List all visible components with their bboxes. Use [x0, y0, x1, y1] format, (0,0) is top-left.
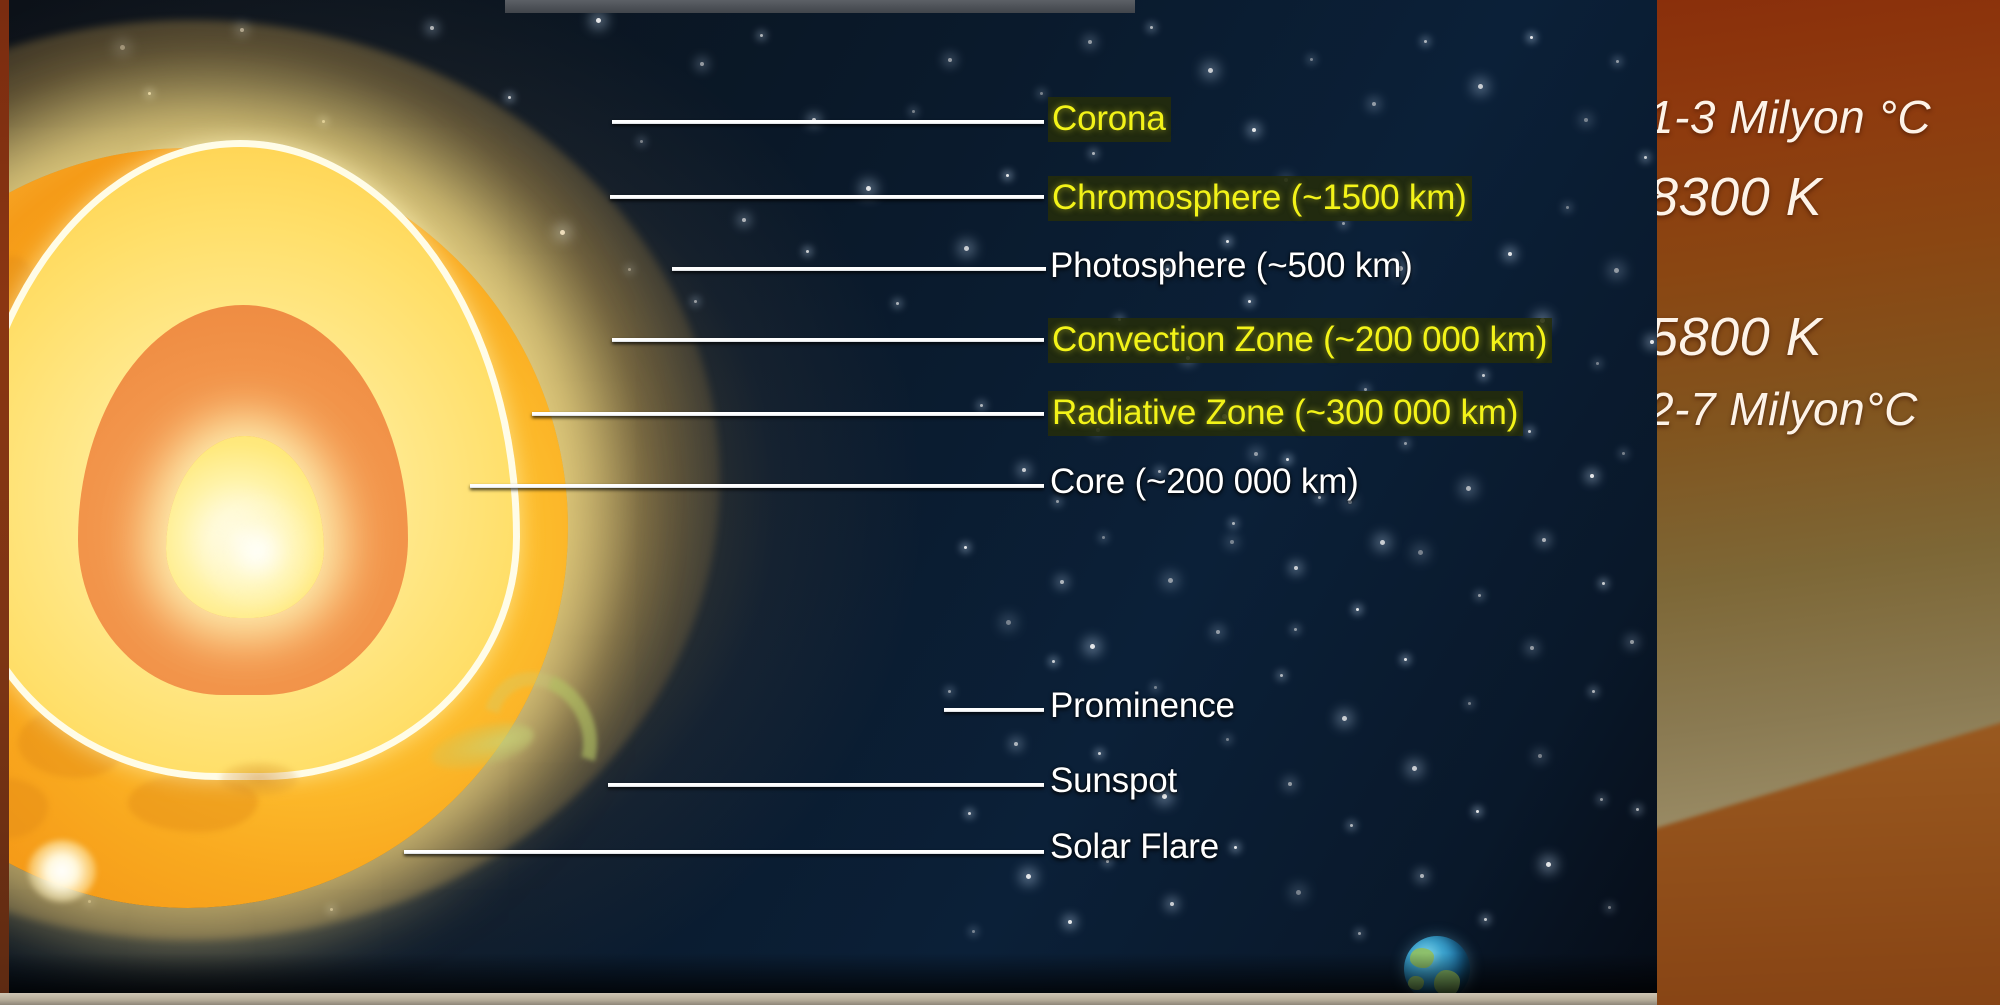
star: [1286, 458, 1289, 461]
star: [1420, 874, 1424, 878]
star: [972, 930, 975, 933]
temp-chromosphere-temp: 8300 K: [1657, 166, 1822, 228]
star: [1478, 594, 1481, 597]
star: [1102, 536, 1105, 539]
leader-line-core: [470, 484, 1044, 488]
star: [806, 250, 809, 253]
sun-diagram-slide: CoronaChromosphere (~1500 km)Photosphere…: [0, 0, 1657, 1005]
star: [1170, 902, 1174, 906]
star: [1006, 174, 1009, 177]
leader-line-convection: [612, 338, 1044, 342]
star: [742, 218, 746, 222]
star: [1482, 374, 1485, 377]
star: [1294, 628, 1297, 631]
star: [1592, 690, 1595, 693]
star: [948, 690, 951, 693]
label-photosphere: Photosphere (~500 km): [1050, 247, 1413, 284]
temp-photosphere-temp: 5800 K: [1657, 306, 1822, 368]
star: [1590, 474, 1594, 478]
star: [1644, 156, 1647, 159]
star: [1294, 566, 1298, 570]
star: [1296, 890, 1301, 895]
star: [1530, 646, 1534, 650]
star: [1372, 102, 1376, 106]
star: [1476, 810, 1479, 813]
star: [1088, 40, 1092, 44]
star: [912, 110, 915, 113]
star: [1614, 268, 1619, 273]
left-edge-strip: [0, 0, 9, 1005]
leader-line-chromosphere: [610, 195, 1044, 199]
star: [1026, 874, 1031, 879]
sunspot-blotch: [220, 762, 298, 796]
sun-illustration: [0, 20, 720, 940]
star: [1566, 206, 1569, 209]
star: [1006, 620, 1011, 625]
star: [980, 404, 983, 407]
slide-canvas: CoronaChromosphere (~1500 km)Photosphere…: [0, 0, 2000, 1005]
star: [968, 812, 971, 815]
star: [1356, 608, 1359, 611]
star: [1226, 240, 1229, 243]
temp-corona-temp: 1-3 Milyon °C: [1657, 90, 1931, 144]
star: [1092, 152, 1095, 155]
star: [1310, 58, 1313, 61]
solar-flare-spot: [28, 840, 96, 902]
label-corona: Corona: [1048, 97, 1171, 142]
star: [1342, 716, 1347, 721]
star: [1168, 578, 1173, 583]
star: [1226, 738, 1229, 741]
star: [1650, 340, 1654, 344]
star: [1630, 640, 1634, 644]
star: [1060, 580, 1064, 584]
star: [1052, 660, 1055, 663]
star: [1090, 644, 1095, 649]
label-sunspot: Sunspot: [1050, 762, 1177, 799]
leader-line-solar-flare: [404, 850, 1044, 854]
star: [1602, 582, 1605, 585]
star: [1546, 862, 1551, 867]
star: [866, 186, 871, 191]
leader-line-photosphere: [672, 267, 1046, 271]
star: [1468, 702, 1471, 705]
bottom-vignette: [0, 953, 1657, 993]
star: [1542, 538, 1546, 542]
star: [1622, 452, 1625, 455]
star: [1528, 430, 1531, 433]
star: [1234, 846, 1237, 849]
star: [1466, 486, 1471, 491]
star: [1596, 362, 1599, 365]
star: [1150, 26, 1153, 29]
star: [1358, 932, 1361, 935]
leader-line-prominence: [944, 708, 1044, 712]
star: [1424, 40, 1427, 43]
star: [1530, 36, 1533, 39]
star: [1350, 824, 1353, 827]
star: [1508, 252, 1512, 256]
star: [1252, 128, 1256, 132]
leader-line-radiative: [532, 412, 1044, 416]
temp-convection-temp: 2-7 Milyon°C: [1657, 382, 1918, 436]
label-convection: Convection Zone (~200 000 km): [1048, 318, 1552, 363]
sun-cutaway: [0, 140, 520, 780]
leader-line-corona: [612, 120, 1044, 124]
star: [1014, 742, 1018, 746]
star: [1636, 808, 1639, 811]
star: [1098, 752, 1101, 755]
star: [1342, 222, 1345, 225]
star: [1254, 452, 1258, 456]
star: [1412, 766, 1417, 771]
star: [1616, 60, 1619, 63]
label-solar-flare: Solar Flare: [1050, 828, 1219, 865]
star: [1288, 782, 1292, 786]
star: [964, 546, 967, 549]
label-core: Core (~200 000 km): [1050, 463, 1359, 500]
star: [760, 34, 763, 37]
leader-line-sunspot: [608, 783, 1044, 787]
star: [964, 246, 969, 251]
star: [1230, 540, 1234, 544]
star: [1600, 798, 1603, 801]
star: [1040, 92, 1043, 95]
star: [1068, 920, 1072, 924]
star: [948, 58, 952, 62]
label-chromosphere: Chromosphere (~1500 km): [1048, 176, 1472, 221]
star: [1608, 906, 1611, 909]
star: [1584, 118, 1588, 122]
star: [1022, 468, 1026, 472]
star: [1538, 754, 1542, 758]
star: [1216, 630, 1220, 634]
star: [1404, 442, 1407, 445]
star: [1484, 918, 1487, 921]
star: [1208, 68, 1213, 73]
star: [1248, 300, 1251, 303]
temperature-panel: 1-3 Milyon °C8300 K5800 K2-7 Milyon°C: [1657, 0, 2000, 1005]
star: [1232, 522, 1235, 525]
core-glow: [198, 492, 318, 612]
star: [1478, 84, 1483, 89]
label-prominence: Prominence: [1050, 687, 1235, 724]
top-grey-bar: [505, 0, 1135, 13]
star: [1418, 550, 1423, 555]
star: [896, 302, 899, 305]
panel-diagonal-band: [1657, 707, 2000, 1005]
star: [1280, 674, 1283, 677]
star: [1380, 540, 1385, 545]
star: [1404, 658, 1407, 661]
label-radiative: Radiative Zone (~300 000 km): [1048, 391, 1523, 436]
